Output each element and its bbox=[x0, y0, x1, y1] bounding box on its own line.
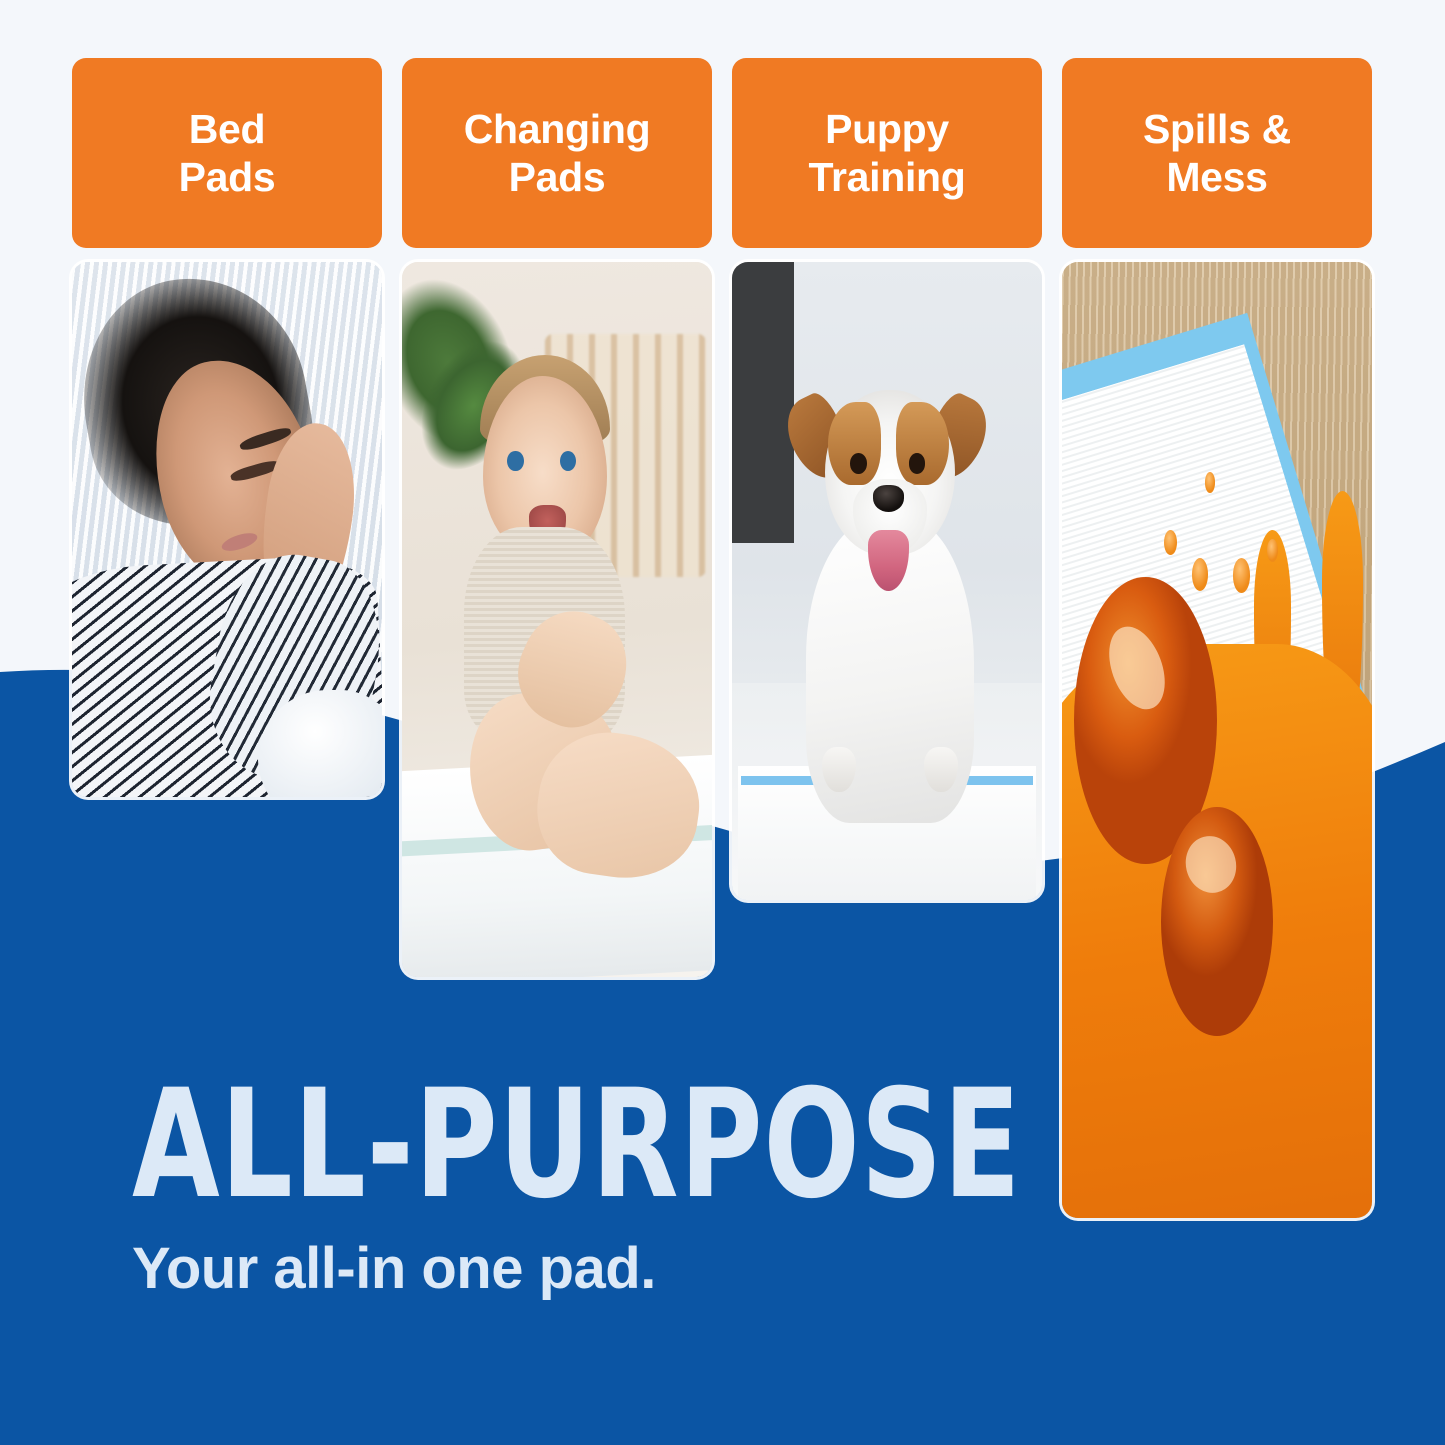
headline-subtitle: Your all-in one pad. bbox=[132, 1237, 952, 1301]
photo-changing-pads-art bbox=[402, 262, 712, 977]
badge-puppy-training[interactable]: Puppy Training bbox=[732, 58, 1042, 248]
category-column-changing-pads: Changing Pads bbox=[402, 58, 712, 977]
badge-bed-pads[interactable]: Bed Pads bbox=[72, 58, 382, 248]
category-columns: Bed Pads Changing Pads bbox=[72, 58, 1372, 1218]
dog-face-patch-right bbox=[896, 402, 949, 485]
badge-spills-mess[interactable]: Spills & Mess bbox=[1062, 58, 1372, 248]
category-column-spills-mess: Spills & Mess bbox=[1062, 58, 1372, 1218]
badge-changing-pads[interactable]: Changing Pads bbox=[402, 58, 712, 248]
photo-spills-mess bbox=[1062, 262, 1372, 1218]
dog-eye-right bbox=[909, 453, 926, 473]
photo-spills-mess-art bbox=[1062, 262, 1372, 1218]
photo-puppy-training-art bbox=[732, 262, 1042, 900]
spill-speck-4 bbox=[1233, 558, 1250, 592]
baby-eye-left bbox=[507, 451, 523, 471]
headline-block: ALL-PURPOSE Your all-in one pad. bbox=[132, 1072, 952, 1301]
dog-eye-left bbox=[850, 453, 867, 473]
category-column-puppy-training: Puppy Training bbox=[732, 58, 1042, 900]
dark-wall-panel bbox=[732, 262, 794, 543]
photo-bed-pads-art bbox=[72, 262, 382, 797]
photo-changing-pads bbox=[402, 262, 712, 977]
spill-speck-5 bbox=[1267, 539, 1278, 562]
photo-bed-pads bbox=[72, 262, 382, 797]
photo-puppy-training bbox=[732, 262, 1042, 900]
headline-title: ALL-PURPOSE bbox=[132, 1072, 821, 1219]
category-column-bed-pads: Bed Pads bbox=[72, 58, 382, 797]
product-infographic: Bed Pads Changing Pads bbox=[0, 0, 1445, 1445]
